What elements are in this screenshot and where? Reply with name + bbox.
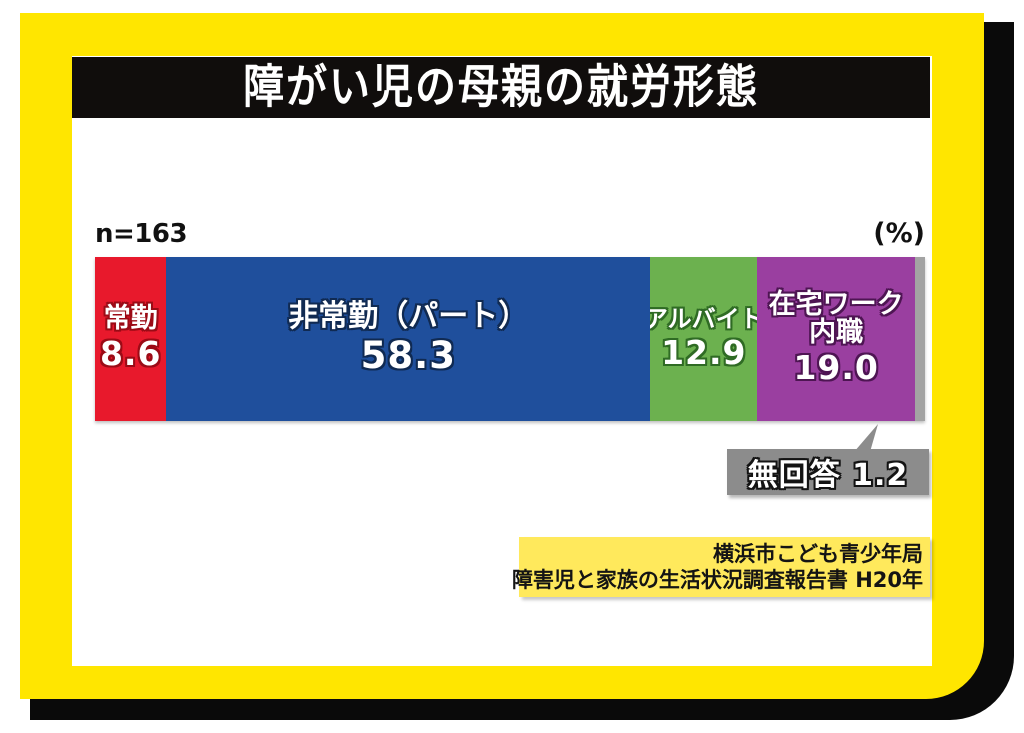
- source-citation-box: 横浜市こども青少年局 障害児と家族の生活状況調査報告書 H20年: [519, 537, 930, 597]
- bar-segment-value-3: 12.9: [661, 335, 746, 372]
- stacked-bar-chart: 常勤8.6非常勤（パート）58.3アルバイト12.9在宅ワーク内職19.0: [95, 257, 925, 421]
- poster-root: 障がい児の母親の就労形態 n=163 (%) 常勤8.6非常勤（パート）58.3…: [0, 0, 1024, 733]
- no-answer-callout: 無回答 1.2: [727, 449, 929, 495]
- title-bar: 障がい児の母親の就労形態: [72, 57, 930, 118]
- bar-segment-value-1: 8.6: [100, 336, 161, 373]
- no-answer-callout-text: 無回答 1.2: [748, 450, 909, 494]
- bar-segment-value-4: 19.0: [793, 350, 878, 387]
- page-title: 障がい児の母親の就労形態: [243, 65, 759, 111]
- bar-segment-label-3: アルバイト: [650, 307, 757, 332]
- bar-segment-1: 常勤8.6: [95, 257, 166, 421]
- source-line-1: 横浜市こども青少年局: [713, 542, 923, 567]
- unit-label: (%): [873, 218, 925, 249]
- sample-size-label: n=163: [95, 219, 187, 249]
- bar-segment-3: アルバイト12.9: [650, 257, 757, 421]
- bar-segment-2: 非常勤（パート）58.3: [166, 257, 650, 421]
- bar-segment-label-2: 非常勤（パート）: [288, 301, 528, 332]
- bar-segment-label-1: 常勤: [104, 305, 158, 333]
- bar-segment-value-2: 58.3: [361, 335, 456, 376]
- bar-segment-label-4: 在宅ワーク内職: [769, 291, 904, 347]
- source-line-2: 障害児と家族の生活状況調査報告書 H20年: [512, 568, 923, 593]
- bar-segment-5: [915, 257, 925, 421]
- bar-segment-4: 在宅ワーク内職19.0: [757, 257, 915, 421]
